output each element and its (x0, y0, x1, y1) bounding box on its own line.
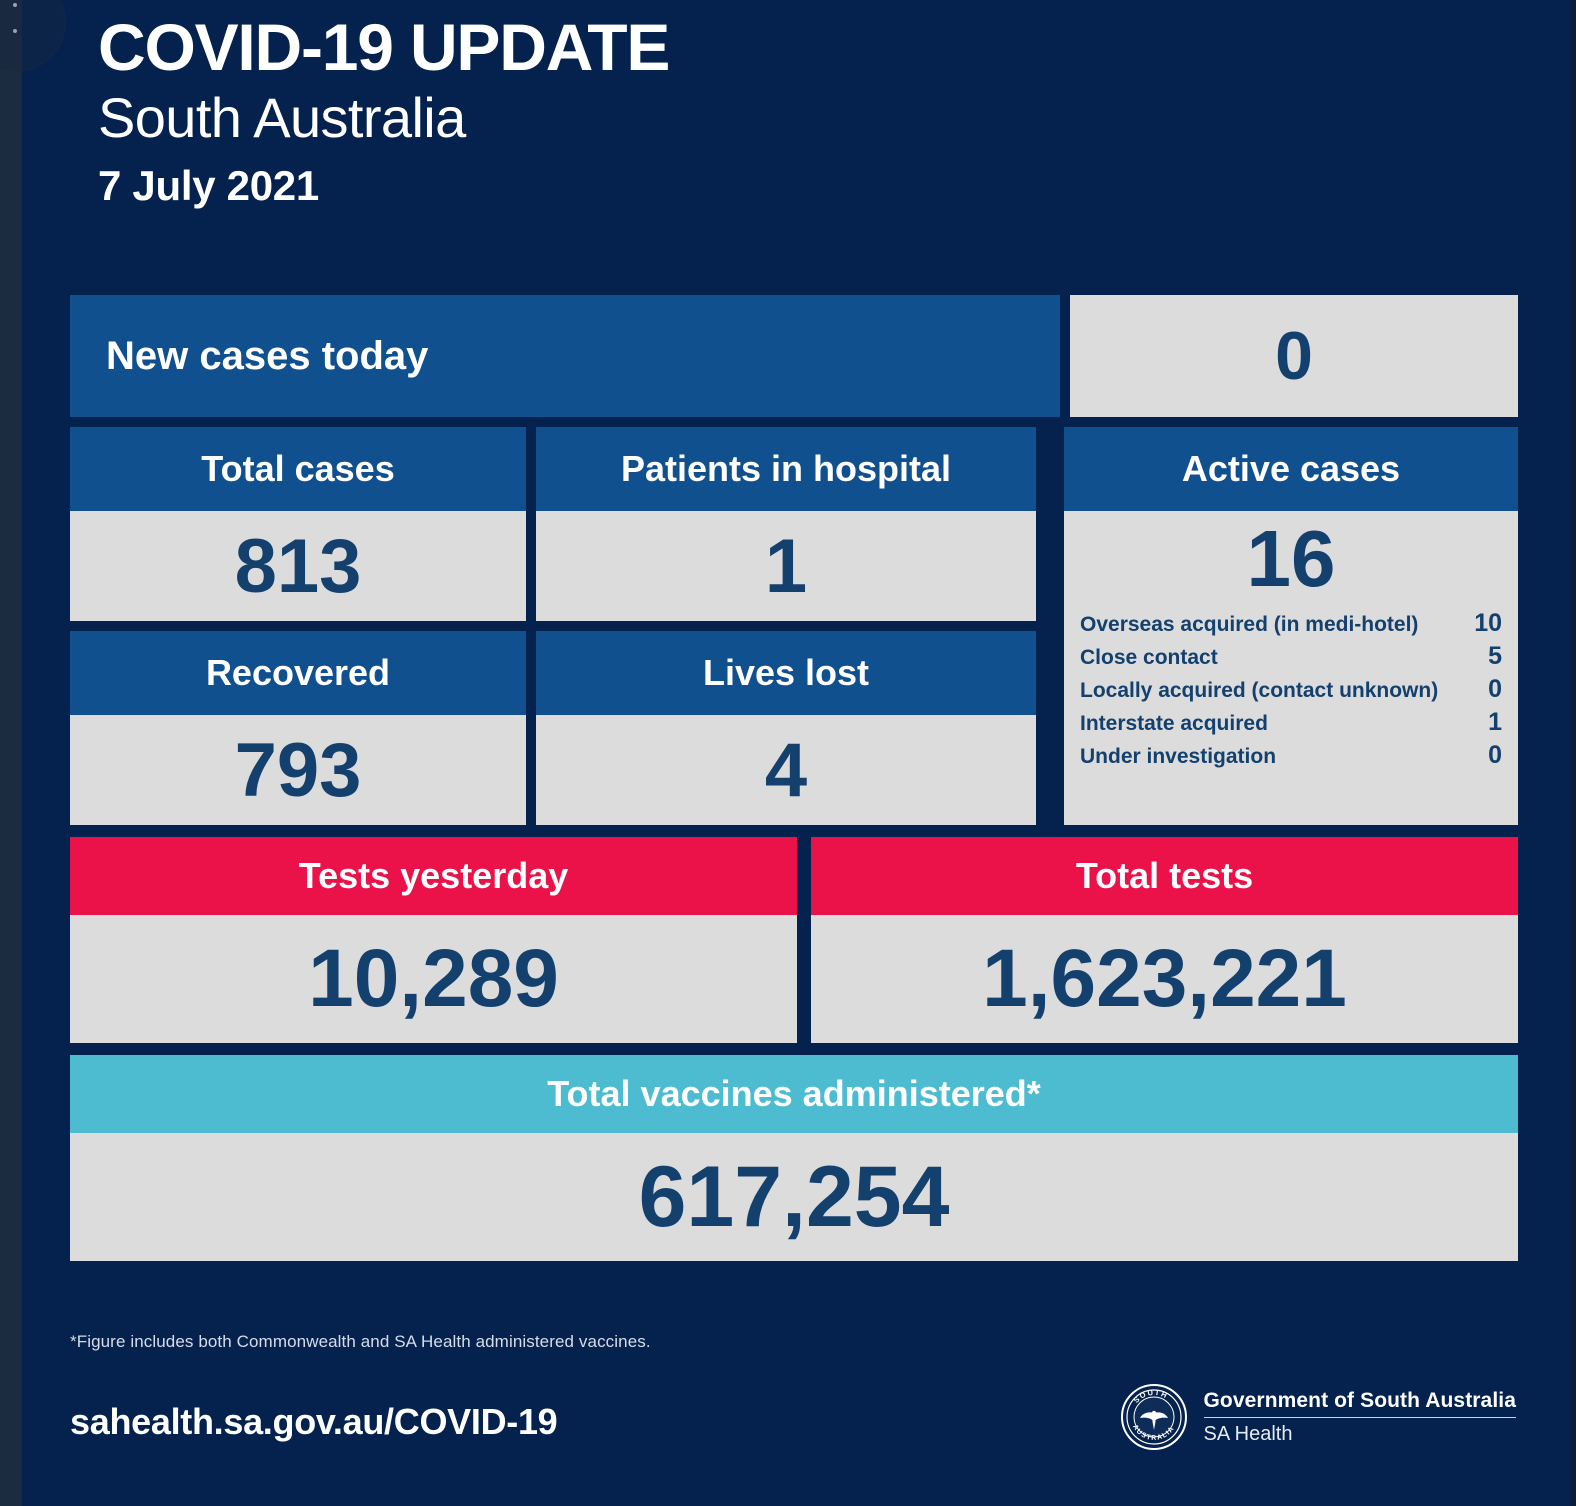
breakdown-row: Overseas acquired (in medi-hotel)10 (1080, 607, 1502, 640)
breakdown-value: 0 (1476, 743, 1502, 768)
left-edge-strip (0, 0, 22, 1506)
patients-in-hospital-label: Patients in hospital (536, 427, 1036, 511)
right-edge-strip (1570, 0, 1576, 1506)
breakdown-row: Under investigation0 (1080, 739, 1502, 772)
stats-row-lower: Recovered 793 Lives lost 4 (70, 631, 1050, 825)
government-logo: SOUTH AUSTRALIA Govern (1120, 1383, 1517, 1451)
lives-lost-value: 4 (536, 715, 1036, 825)
report-date: 7 July 2021 (98, 161, 1570, 211)
vaccines-row: Total vaccines administered* 617,254 (70, 1055, 1518, 1261)
poster-footer: sahealth.sa.gov.au/COVID-19 SOUTH AUSTRA (22, 1395, 1570, 1485)
artifact-dot (13, 29, 17, 33)
stats-row-upper: Total cases 813 Patients in hospital 1 (70, 427, 1050, 621)
total-vaccines-value: 617,254 (70, 1133, 1518, 1261)
vaccines-footnote: *Figure includes both Commonwealth and S… (70, 1332, 651, 1352)
core-stats-left-stack: Total cases 813 Patients in hospital 1 R… (70, 427, 1050, 825)
breakdown-label: Interstate acquired (1080, 713, 1268, 734)
card-total-cases: Total cases 813 (70, 427, 526, 621)
tests-yesterday-value: 10,289 (70, 915, 797, 1043)
new-cases-label: New cases today (70, 295, 1060, 417)
lives-lost-label: Lives lost (536, 631, 1036, 715)
card-total-tests: Total tests 1,623,221 (811, 837, 1518, 1043)
breakdown-value: 5 (1476, 644, 1502, 669)
tests-row: Tests yesterday 10,289 Total tests 1,623… (70, 837, 1518, 1043)
card-active-cases: Active cases 16 Overseas acquired (in me… (1064, 427, 1518, 825)
artifact-dot (13, 3, 17, 7)
stats-grid: New cases today 0 Total cases 813 Patien… (70, 295, 1518, 1271)
card-patients-in-hospital: Patients in hospital 1 (536, 427, 1036, 621)
government-name: Government of South Australia (1204, 1389, 1517, 1418)
breakdown-label: Overseas acquired (in medi-hotel) (1080, 614, 1418, 635)
tests-yesterday-label: Tests yesterday (70, 837, 797, 915)
breakdown-row: Close contact5 (1080, 640, 1502, 673)
card-lives-lost: Lives lost 4 (536, 631, 1036, 825)
breakdown-value: 1 (1476, 710, 1502, 735)
poster-header: COVID-19 UPDATE South Australia 7 July 2… (22, 0, 1570, 211)
total-tests-value: 1,623,221 (811, 915, 1518, 1043)
government-logo-text: Government of South Australia SA Health (1204, 1389, 1517, 1446)
south-australia-crest-icon: SOUTH AUSTRALIA (1120, 1383, 1188, 1451)
total-tests-label: Total tests (811, 837, 1518, 915)
new-cases-value: 0 (1070, 295, 1518, 417)
active-cases-breakdown: Overseas acquired (in medi-hotel)10Close… (1080, 607, 1502, 772)
breakdown-row: Interstate acquired1 (1080, 706, 1502, 739)
card-total-vaccines: Total vaccines administered* 617,254 (70, 1055, 1518, 1261)
poster-content: COVID-19 UPDATE South Australia 7 July 2… (22, 0, 1570, 1506)
card-tests-yesterday: Tests yesterday 10,289 (70, 837, 797, 1043)
recovered-label: Recovered (70, 631, 526, 715)
breakdown-value: 0 (1476, 677, 1502, 702)
total-cases-value: 813 (70, 511, 526, 621)
breakdown-label: Under investigation (1080, 746, 1276, 767)
new-cases-row: New cases today 0 (70, 295, 1518, 417)
total-vaccines-label: Total vaccines administered* (70, 1055, 1518, 1133)
agency-name: SA Health (1204, 1418, 1517, 1446)
region-subtitle: South Australia (98, 85, 1570, 151)
breakdown-row: Locally acquired (contact unknown)0 (1080, 673, 1502, 706)
card-recovered: Recovered 793 (70, 631, 526, 825)
breakdown-label: Locally acquired (contact unknown) (1080, 680, 1438, 701)
total-cases-label: Total cases (70, 427, 526, 511)
core-stats-row: Total cases 813 Patients in hospital 1 R… (70, 427, 1518, 825)
breakdown-label: Close contact (1080, 647, 1218, 668)
sahealth-website-link[interactable]: sahealth.sa.gov.au/COVID-19 (70, 1401, 557, 1443)
recovered-value: 793 (70, 715, 526, 825)
covid-update-poster: COVID-19 UPDATE South Australia 7 July 2… (0, 0, 1576, 1506)
active-cases-label: Active cases (1064, 427, 1518, 511)
page-title: COVID-19 UPDATE (98, 14, 1570, 81)
breakdown-value: 10 (1474, 611, 1502, 636)
patients-in-hospital-value: 1 (536, 511, 1036, 621)
active-cases-value: 16 (1080, 513, 1502, 605)
